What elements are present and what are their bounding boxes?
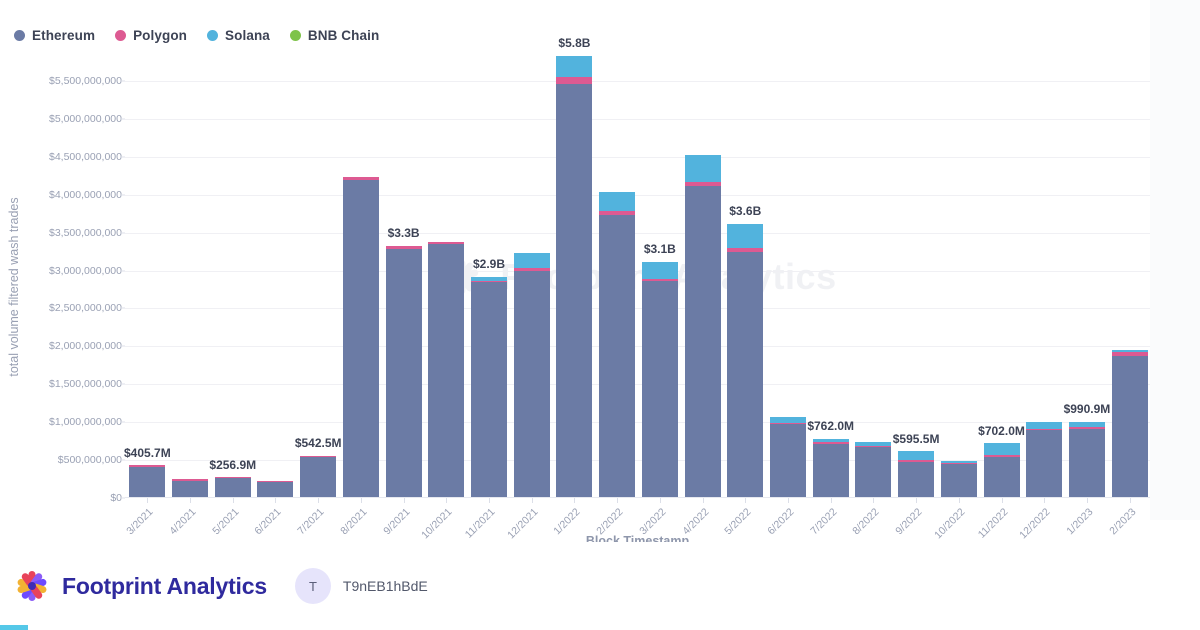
bar-segment-ethereum[interactable] <box>685 186 721 497</box>
y-axis-tick-label: $5,000,000,000 <box>49 113 122 125</box>
bar-segment-solana[interactable] <box>727 224 763 248</box>
y-axis-tick-label: $5,500,000,000 <box>49 75 122 87</box>
bar-column[interactable] <box>770 417 806 497</box>
bar-column[interactable] <box>1112 350 1148 497</box>
bar-column[interactable] <box>514 253 550 497</box>
bar-value-label: $3.1B <box>644 242 676 256</box>
y-axis-tick-mark <box>120 346 125 347</box>
bar-column[interactable] <box>172 479 208 497</box>
bar-segment-ethereum[interactable] <box>855 447 891 497</box>
bar-column[interactable] <box>386 246 422 497</box>
x-axis-tick-mark <box>275 498 276 503</box>
gridline <box>125 346 1150 347</box>
bar-segment-ethereum[interactable] <box>599 215 635 497</box>
x-axis-tick-mark <box>1044 498 1045 503</box>
x-axis-tick-mark <box>147 498 148 503</box>
y-axis-tick-mark <box>120 118 125 119</box>
bar-column[interactable] <box>1026 422 1062 497</box>
user-info[interactable]: T T9nEB1hBdE <box>295 568 428 604</box>
y-axis-tick-label: $500,000,000 <box>58 454 122 466</box>
x-axis-tick-mark <box>617 498 618 503</box>
y-axis-tick-mark <box>120 270 125 271</box>
legend-label: BNB Chain <box>308 28 379 43</box>
x-axis-tick-mark <box>446 498 447 503</box>
y-axis-tick-mark <box>120 80 125 81</box>
bar-value-label: $990.9M <box>1064 402 1111 416</box>
bar-segment-solana[interactable] <box>685 155 721 181</box>
y-axis-tick-mark <box>120 384 125 385</box>
bar-segment-ethereum[interactable] <box>386 249 422 497</box>
bar-value-label: $5.8B <box>558 36 590 50</box>
legend-swatch-icon <box>290 30 301 41</box>
x-axis-tick-mark <box>1087 498 1088 503</box>
legend-item-ethereum[interactable]: Ethereum <box>14 28 95 43</box>
x-axis-baseline <box>125 497 1150 498</box>
x-axis-tick-mark <box>703 498 704 503</box>
bar-column[interactable] <box>855 442 891 497</box>
x-axis-tick-mark <box>489 498 490 503</box>
x-axis-tick-mark <box>1130 498 1131 503</box>
bar-column[interactable] <box>471 277 507 497</box>
chart-page: EthereumPolygonSolanaBNB Chain total vol… <box>0 0 1200 630</box>
brand-name: Footprint Analytics <box>62 573 267 600</box>
bar-value-label: $256.9M <box>209 458 256 472</box>
y-axis-tick-label: $2,500,000,000 <box>49 302 122 314</box>
bar-column[interactable] <box>300 456 336 497</box>
x-axis-tick-mark <box>190 498 191 503</box>
legend-label: Polygon <box>133 28 187 43</box>
y-axis-tick-label: $1,500,000,000 <box>49 378 122 390</box>
bar-column[interactable] <box>556 56 592 497</box>
x-axis-tick-mark <box>532 498 533 503</box>
gridline <box>125 81 1150 82</box>
legend-item-bnb-chain[interactable]: BNB Chain <box>290 28 379 43</box>
x-axis-tick-mark <box>916 498 917 503</box>
gridline <box>125 271 1150 272</box>
x-axis-tick-mark <box>831 498 832 503</box>
gridline <box>125 119 1150 120</box>
x-axis-tick-mark <box>574 498 575 503</box>
bar-column[interactable] <box>813 439 849 497</box>
legend-label: Ethereum <box>32 28 95 43</box>
footprint-flower-icon <box>12 566 52 606</box>
bar-column[interactable] <box>642 262 678 497</box>
bar-column[interactable] <box>428 242 464 497</box>
y-axis-tick-mark <box>120 308 125 309</box>
bar-segment-ethereum[interactable] <box>1112 356 1148 497</box>
bar-column[interactable] <box>941 461 977 497</box>
bar-value-label: $762.0M <box>807 419 854 433</box>
legend-swatch-icon <box>207 30 218 41</box>
bar-segment-ethereum[interactable] <box>727 252 763 497</box>
bar-segment-ethereum[interactable] <box>428 244 464 497</box>
footer-bar: Footprint Analytics T T9nEB1hBdE <box>0 542 1200 630</box>
chart-legend: EthereumPolygonSolanaBNB Chain <box>14 25 399 45</box>
bar-segment-ethereum[interactable] <box>770 424 806 497</box>
x-axis-tick-mark <box>233 498 234 503</box>
bar-column[interactable] <box>343 177 379 497</box>
bar-column[interactable] <box>727 224 763 497</box>
bar-segment-ethereum[interactable] <box>514 271 550 497</box>
gridline <box>125 157 1150 158</box>
y-axis-tick-label: $2,000,000,000 <box>49 340 122 352</box>
bar-segment-polygon[interactable] <box>556 77 592 84</box>
bar-segment-solana[interactable] <box>984 443 1020 455</box>
y-axis-title-wrap: total volume filtered wash trades <box>22 52 23 522</box>
y-axis-tick-mark <box>120 232 125 233</box>
legend-swatch-icon <box>115 30 126 41</box>
bar-segment-solana[interactable] <box>898 451 934 460</box>
bar-segment-ethereum[interactable] <box>1026 430 1062 497</box>
bar-segment-ethereum[interactable] <box>898 462 934 497</box>
chart-canvas: total volume filtered wash trades Footpr… <box>0 52 1200 522</box>
x-axis-tick-mark <box>404 498 405 503</box>
bar-segment-ethereum[interactable] <box>471 282 507 497</box>
x-axis-tick-mark <box>318 498 319 503</box>
y-axis-tick-label: $4,000,000,000 <box>49 189 122 201</box>
gridline <box>125 195 1150 196</box>
bar-value-label: $2.9B <box>473 257 505 271</box>
bar-column[interactable] <box>685 155 721 497</box>
bar-segment-ethereum[interactable] <box>642 281 678 497</box>
bar-segment-solana[interactable] <box>599 192 635 211</box>
bar-segment-solana[interactable] <box>556 56 592 76</box>
bar-segment-solana[interactable] <box>514 253 550 268</box>
legend-item-solana[interactable]: Solana <box>207 28 270 43</box>
legend-label: Solana <box>225 28 270 43</box>
bar-column[interactable] <box>257 481 293 497</box>
bar-segment-ethereum[interactable] <box>984 457 1020 497</box>
gridline <box>125 308 1150 309</box>
bar-segment-ethereum[interactable] <box>343 180 379 497</box>
y-axis-tick-mark <box>120 156 125 157</box>
bar-value-label: $542.5M <box>295 436 342 450</box>
brand-logo[interactable]: Footprint Analytics <box>12 566 267 606</box>
y-axis-tick-label: $4,500,000,000 <box>49 151 122 163</box>
y-axis-tick-mark <box>120 498 125 499</box>
y-axis-tick-label: $1,000,000,000 <box>49 416 122 428</box>
y-axis-tick-mark <box>120 194 125 195</box>
y-axis-tick-label: $3,000,000,000 <box>49 265 122 277</box>
bar-segment-ethereum[interactable] <box>257 482 293 497</box>
bar-value-label: $405.7M <box>124 446 171 460</box>
x-axis-tick-mark <box>361 498 362 503</box>
bar-column[interactable] <box>984 443 1020 497</box>
bar-segment-ethereum[interactable] <box>129 467 165 497</box>
x-axis-tick-mark <box>1002 498 1003 503</box>
bar-value-label: $702.0M <box>978 424 1025 438</box>
bar-column[interactable] <box>898 451 934 497</box>
legend-swatch-icon <box>14 30 25 41</box>
plot-area: Footprint Analytics $0$500,000,000$1,000… <box>125 62 1150 498</box>
footer-accent-bar <box>0 625 28 630</box>
gridline <box>125 233 1150 234</box>
bar-segment-ethereum[interactable] <box>556 84 592 497</box>
avatar[interactable]: T <box>295 568 331 604</box>
x-axis-tick-mark <box>873 498 874 503</box>
bar-segment-ethereum[interactable] <box>172 481 208 497</box>
y-axis-title: total volume filtered wash trades <box>7 197 21 376</box>
x-axis-tick-mark <box>660 498 661 503</box>
bar-column[interactable] <box>129 465 165 497</box>
flower-core <box>28 582 36 590</box>
y-axis-tick-mark <box>120 422 125 423</box>
bar-value-label: $595.5M <box>893 432 940 446</box>
bar-value-label: $3.6B <box>729 204 761 218</box>
legend-item-polygon[interactable]: Polygon <box>115 28 187 43</box>
bar-column[interactable] <box>1069 422 1105 497</box>
bar-column[interactable] <box>599 192 635 497</box>
bar-column[interactable] <box>215 477 251 497</box>
y-axis-tick-label: $3,500,000,000 <box>49 227 122 239</box>
x-axis-tick-mark <box>788 498 789 503</box>
bar-segment-ethereum[interactable] <box>813 444 849 497</box>
bar-segment-ethereum[interactable] <box>300 457 336 497</box>
bar-segment-ethereum[interactable] <box>941 464 977 497</box>
username: T9nEB1hBdE <box>343 578 428 594</box>
x-axis-tick-mark <box>959 498 960 503</box>
bar-segment-ethereum[interactable] <box>1069 429 1105 497</box>
bar-segment-ethereum[interactable] <box>215 478 251 497</box>
bar-segment-solana[interactable] <box>642 262 678 279</box>
bar-value-label: $3.3B <box>388 226 420 240</box>
gridline <box>125 384 1150 385</box>
x-axis-tick-mark <box>745 498 746 503</box>
